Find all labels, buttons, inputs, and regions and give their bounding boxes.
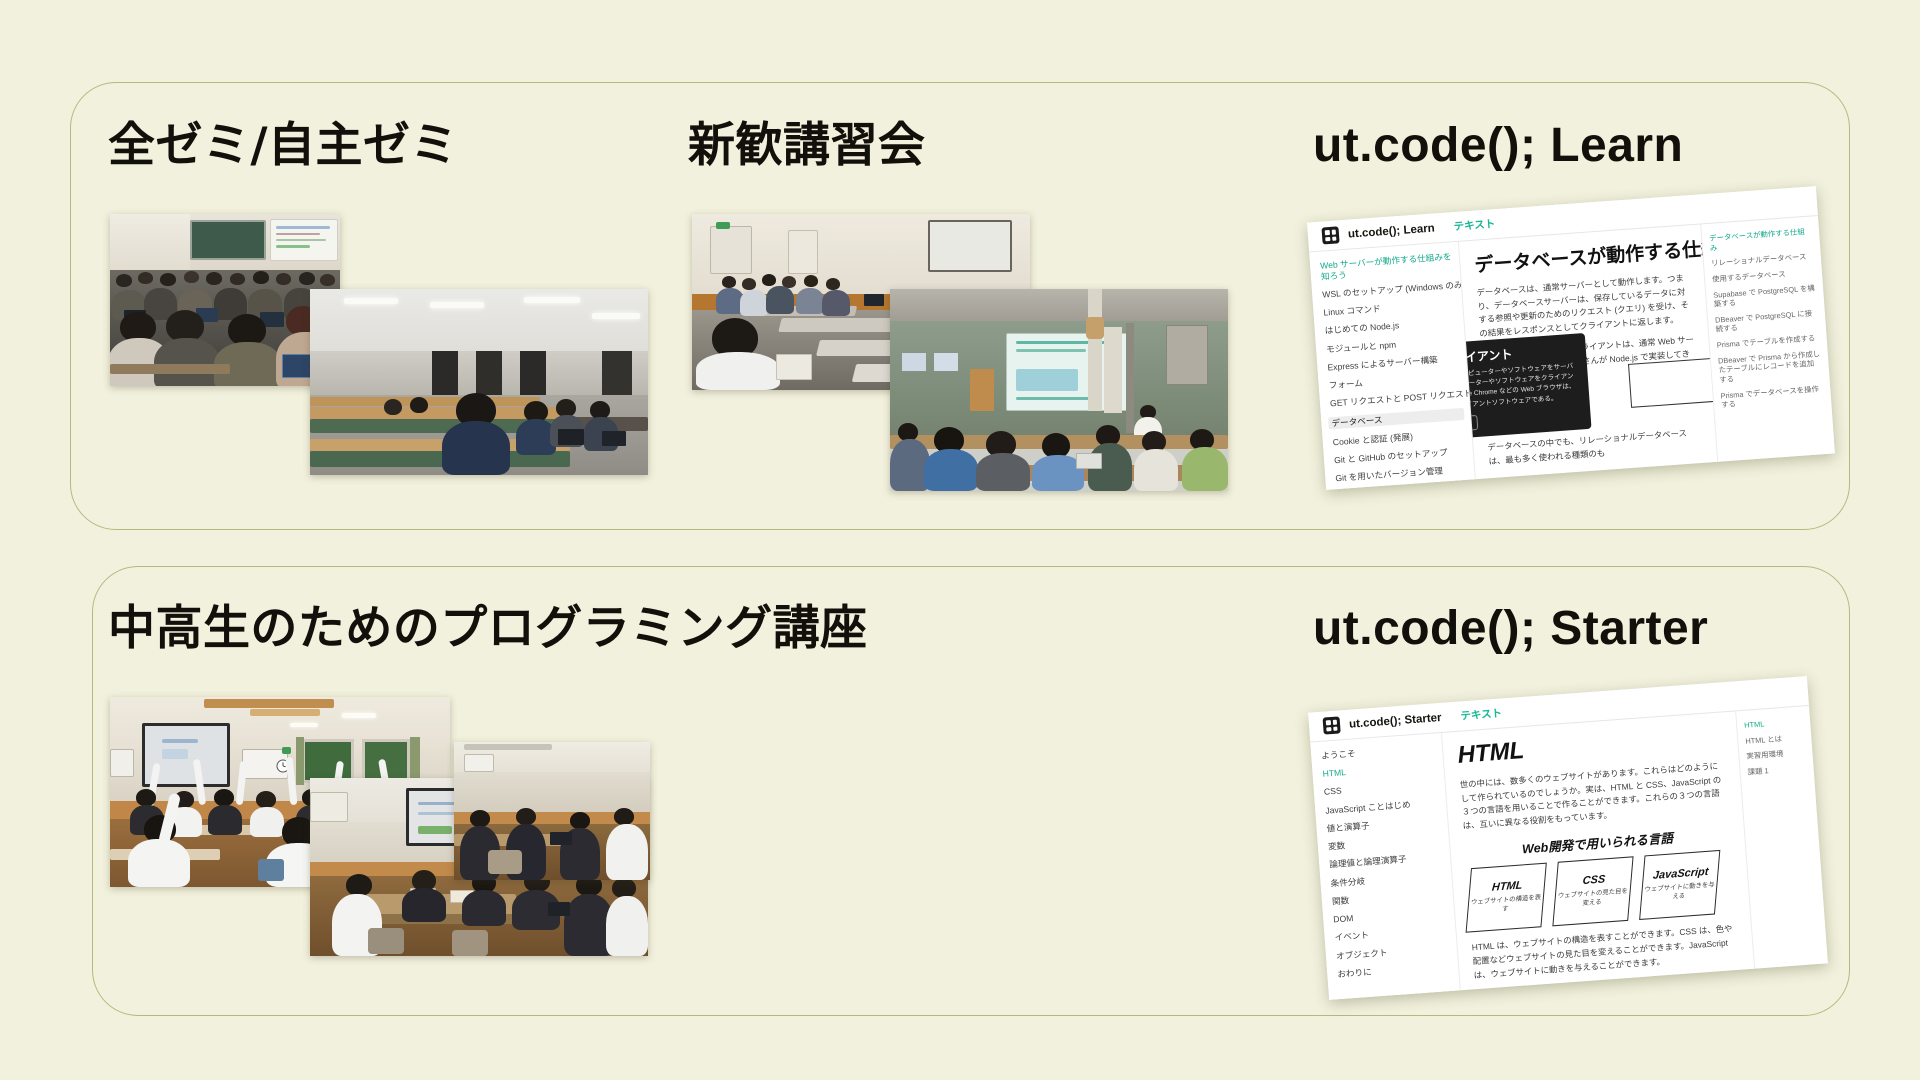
screenshot-utcode-learn: ut.code(); Learn テキスト Web サーバーが動作する仕組みを知… (1307, 186, 1835, 490)
language-name-html: HTML (1491, 880, 1522, 894)
starter-sidebar-item-11[interactable]: オブジェクト (1336, 942, 1451, 961)
learn-article-title: データベースが動作する仕組み (1474, 235, 1689, 277)
language-desc-javascript: ウェブサイトに動きを与える (1641, 882, 1716, 905)
learn-tooltip-card: サーバーとクライアント サービスを提供する側のコンピューターやソフトウェアをサー… (1459, 333, 1592, 444)
heading-learn: ut.code(); Learn (1313, 122, 1683, 170)
page-root: 全ゼミ/自主ゼミ 新歓講習会 ut.code(); Learn (0, 0, 1920, 1080)
learn-toc-item-1[interactable]: リレーショナルデータベース (1711, 252, 1814, 269)
photo-lecture-room-green-seats (310, 289, 648, 475)
starter-toc-item-3[interactable]: 課題 1 (1747, 763, 1807, 777)
starter-sidebar-item-4[interactable]: 値と演算子 (1326, 815, 1441, 834)
starter-toc-item-0[interactable]: HTML (1744, 716, 1804, 730)
learn-toc-item-7[interactable]: Prisma でデータベースを操作する (1720, 384, 1824, 411)
language-desc-css: ウェブサイトの見た目を変える (1555, 888, 1630, 911)
photo-lab-room-projector-talk (890, 289, 1228, 491)
learn-tooltip-body: サービスを提供する側のコンピューターやソフトウェアをサーバー、提供される側のコン… (1459, 362, 1580, 417)
learn-paragraph-0: データベースは、通常サーバーとして動作します。つまり、データベースサーバーは、保… (1476, 271, 1693, 341)
learn-toc-item-2[interactable]: 使用するデータベース (1712, 267, 1815, 284)
language-name-javascript: JavaScript (1652, 867, 1709, 883)
learn-sidebar-item-7[interactable]: GET リクエストと POST リクエスト (1330, 389, 1463, 409)
language-box-html: HTML ウェブサイトの構造を表す (1466, 863, 1547, 933)
learn-sidebar-item-4[interactable]: モジュールと npm (1326, 335, 1459, 355)
starter-paragraph-0: 世の中には、数多くのウェブサイトがあります。これらはどのようにして作られているの… (1459, 759, 1728, 833)
starter-sidebar-item-1-active[interactable]: HTML (1322, 761, 1437, 780)
photo-lecture-hall-students-laptops (110, 214, 340, 386)
learn-sidebar-item-0[interactable]: Web サーバーが動作する仕組みを知ろう (1320, 251, 1454, 282)
language-name-css: CSS (1582, 874, 1606, 888)
heading-starter: ut.code(); Starter (1313, 605, 1708, 653)
learn-sidebar[interactable]: Web サーバーが動作する仕組みを知ろう WSL のセットアップ (Window… (1309, 242, 1476, 490)
learn-toc-item-6[interactable]: DBeaver で Prisma から作成したテーブルにレコードを追加する (1718, 349, 1823, 385)
learn-article: データベースが動作する仕組み データベースは、通常サーバーとして動作します。つま… (1459, 224, 1717, 479)
photo-students-desks-tablets (454, 742, 650, 880)
learn-brand: ut.code(); Learn (1348, 222, 1436, 240)
learn-sidebar-item-2[interactable]: Linux コマンド (1323, 298, 1456, 318)
learn-toc-item-4[interactable]: DBeaver で PostgreSQL に接続する (1715, 308, 1819, 335)
starter-sidebar-item-6[interactable]: 論理値と論理演算子 (1329, 852, 1444, 871)
heading-zemi: 全ゼミ/自主ゼミ (108, 122, 458, 169)
starter-toc-item-1[interactable]: HTML とは (1745, 732, 1805, 746)
starter-sidebar-item-10[interactable]: イベント (1334, 924, 1449, 943)
language-box-css: CSS ウェブサイトの見た目を変える (1552, 857, 1633, 927)
starter-sidebar-item-2[interactable]: CSS (1324, 779, 1439, 798)
screenshot-utcode-starter: ut.code(); Starter テキスト ようこそ HTML CSS Ja… (1308, 676, 1828, 1000)
starter-toc-item-2[interactable]: 実習用環境 (1746, 748, 1806, 762)
heading-shinkan: 新歓講習会 (688, 122, 925, 169)
starter-sidebar-item-7[interactable]: 条件分岐 (1330, 870, 1445, 889)
learn-toc[interactable]: データベースが動作する仕組み リレーショナルデータベース 使用するデータベース … (1700, 216, 1835, 462)
learn-sidebar-item-6[interactable]: フォーム (1328, 371, 1461, 391)
language-desc-html: ウェブサイトの構造を表す (1468, 895, 1543, 918)
starter-brand: ut.code(); Starter (1349, 711, 1442, 730)
starter-sidebar-item-8[interactable]: 関数 (1332, 888, 1447, 907)
learn-sidebar-item-1[interactable]: WSL のセットアップ (Windows のみ) (1322, 280, 1455, 300)
utcode-logo-icon (1321, 226, 1339, 244)
starter-sidebar-item-0[interactable]: ようこそ (1321, 742, 1436, 761)
starter-article: HTML 世の中には、数多くのウェブサイトがあります。これらはどのようにして作ら… (1442, 711, 1754, 990)
learn-sidebar-item-9[interactable]: Cookie と認証 (発展) (1332, 428, 1465, 448)
starter-sidebar-item-12[interactable]: おわりに (1337, 961, 1452, 980)
learn-toc-item-5[interactable]: Prisma でテーブルを作成する (1717, 333, 1820, 350)
diagram-server-box (1628, 358, 1717, 408)
learn-sidebar-item-10[interactable]: Git と GitHub のセットアップ (1334, 446, 1467, 466)
starter-nav-text-link[interactable]: テキスト (1460, 706, 1503, 724)
learn-sidebar-item-8-active[interactable]: データベース (1328, 407, 1465, 429)
learn-sidebar-item-5[interactable]: Express によるサーバー構築 (1327, 353, 1460, 373)
starter-sidebar-item-5[interactable]: 変数 (1328, 833, 1443, 852)
starter-sidebar-item-3[interactable]: JavaScript ことはじめ (1325, 797, 1440, 816)
starter-sidebar-item-9[interactable]: DOM (1333, 906, 1448, 925)
learn-sidebar-item-3[interactable]: はじめての Node.js (1325, 317, 1458, 337)
starter-sidebar[interactable]: ようこそ HTML CSS JavaScript ことはじめ 値と演算子 変数 … (1310, 733, 1461, 1000)
learn-nav-text-link[interactable]: テキスト (1453, 216, 1496, 234)
starter-language-boxes: HTML ウェブサイトの構造を表す CSS ウェブサイトの見た目を変える Jav… (1466, 850, 1736, 933)
utcode-logo-icon (1323, 716, 1341, 734)
learn-toc-item-0[interactable]: データベースが動作する仕組み (1709, 227, 1813, 254)
learn-toc-item-3[interactable]: Supabase で PostgreSQL を構築する (1713, 283, 1817, 310)
language-box-javascript: JavaScript ウェブサイトに動きを与える (1639, 850, 1720, 920)
heading-chuko: 中高生のためのプログラミング講座 (108, 605, 868, 652)
